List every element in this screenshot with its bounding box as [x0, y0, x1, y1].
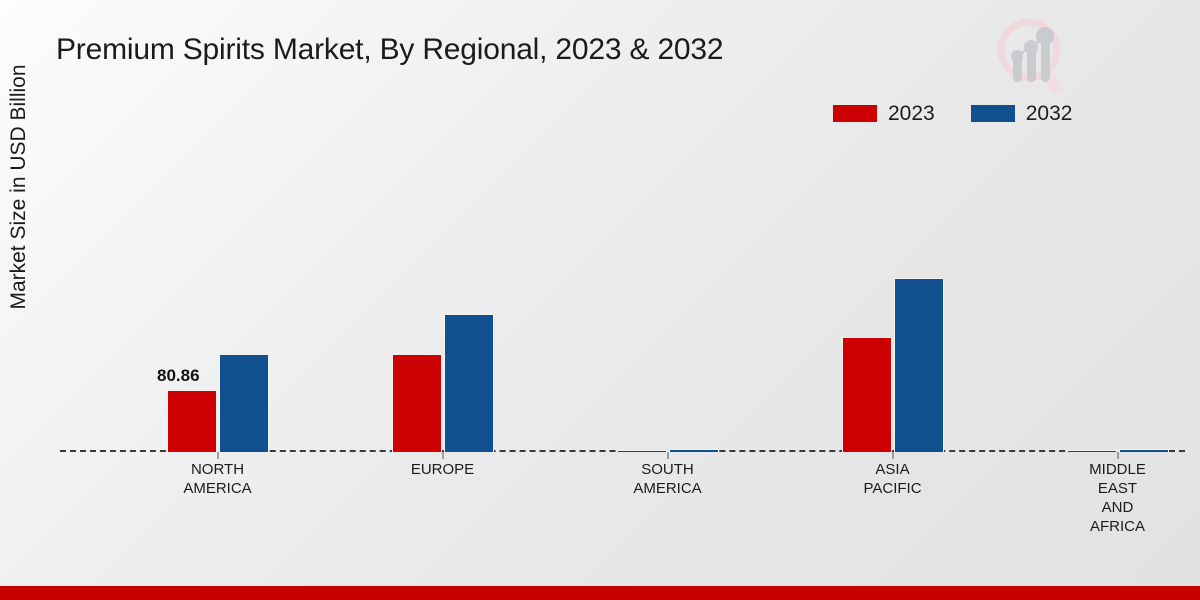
- bar-2023-middle-east-and-africa[interactable]: [1067, 450, 1117, 452]
- data-label-north-america-2023: 80.86: [157, 366, 200, 386]
- chart-legend: 2023 2032: [833, 103, 1072, 124]
- plot-area: 80.86 NORTH AMERICA EUROPE SOUTH AMERICA: [60, 150, 1185, 452]
- bar-2032-middle-east-and-africa[interactable]: [1119, 449, 1169, 452]
- x-tick-north-america: [217, 452, 218, 459]
- x-label-north-america: NORTH AMERICA: [105, 460, 330, 498]
- bar-group-south-america: SOUTH AMERICA: [555, 150, 780, 452]
- bar-group-asia-pacific: ASIA PACIFIC: [780, 150, 1005, 452]
- legend-label-2023: 2023: [888, 103, 935, 124]
- bar-2023-asia-pacific[interactable]: [842, 337, 892, 452]
- bars-europe: [330, 150, 555, 452]
- legend-item-2023[interactable]: 2023: [833, 103, 935, 124]
- bottom-accent-band: [0, 586, 1200, 600]
- x-label-middle-east-and-africa: MIDDLE EAST AND AFRICA: [1005, 460, 1200, 536]
- x-label-europe: EUROPE: [330, 460, 555, 479]
- x-tick-south-america: [667, 452, 668, 459]
- y-axis-title: Market Size in USD Billion: [7, 22, 31, 352]
- bar-2023-europe[interactable]: [392, 354, 442, 452]
- legend-label-2032: 2032: [1026, 103, 1073, 124]
- chart-title: Premium Spirits Market, By Regional, 202…: [56, 33, 723, 67]
- legend-swatch-2032: [971, 105, 1015, 122]
- bars-north-america: [105, 150, 330, 452]
- bar-2032-asia-pacific[interactable]: [894, 278, 944, 452]
- bar-2032-south-america[interactable]: [669, 449, 719, 452]
- bar-2023-north-america[interactable]: [167, 390, 217, 452]
- legend-swatch-2023: [833, 105, 877, 122]
- bars-middle-east-and-africa: [1005, 150, 1200, 452]
- x-label-asia-pacific: ASIA PACIFIC: [780, 460, 1005, 498]
- magnifier-bar-chart-logo-icon: [985, 8, 1081, 104]
- bars-south-america: [555, 150, 780, 452]
- x-tick-middle-east-and-africa: [1117, 452, 1118, 459]
- bar-group-north-america: 80.86 NORTH AMERICA: [105, 150, 330, 452]
- bar-2032-europe[interactable]: [444, 314, 494, 452]
- bars-asia-pacific: [780, 150, 1005, 452]
- bar-2032-north-america[interactable]: [219, 354, 269, 452]
- bar-group-europe: EUROPE: [330, 150, 555, 452]
- bar-group-middle-east-and-africa: MIDDLE EAST AND AFRICA: [1005, 150, 1200, 452]
- x-tick-asia-pacific: [892, 452, 893, 459]
- legend-item-2032[interactable]: 2032: [971, 103, 1073, 124]
- x-label-south-america: SOUTH AMERICA: [555, 460, 780, 498]
- x-tick-europe: [442, 452, 443, 459]
- bar-2023-south-america[interactable]: [617, 450, 667, 452]
- chart-figure: Premium Spirits Market, By Regional, 202…: [0, 0, 1200, 600]
